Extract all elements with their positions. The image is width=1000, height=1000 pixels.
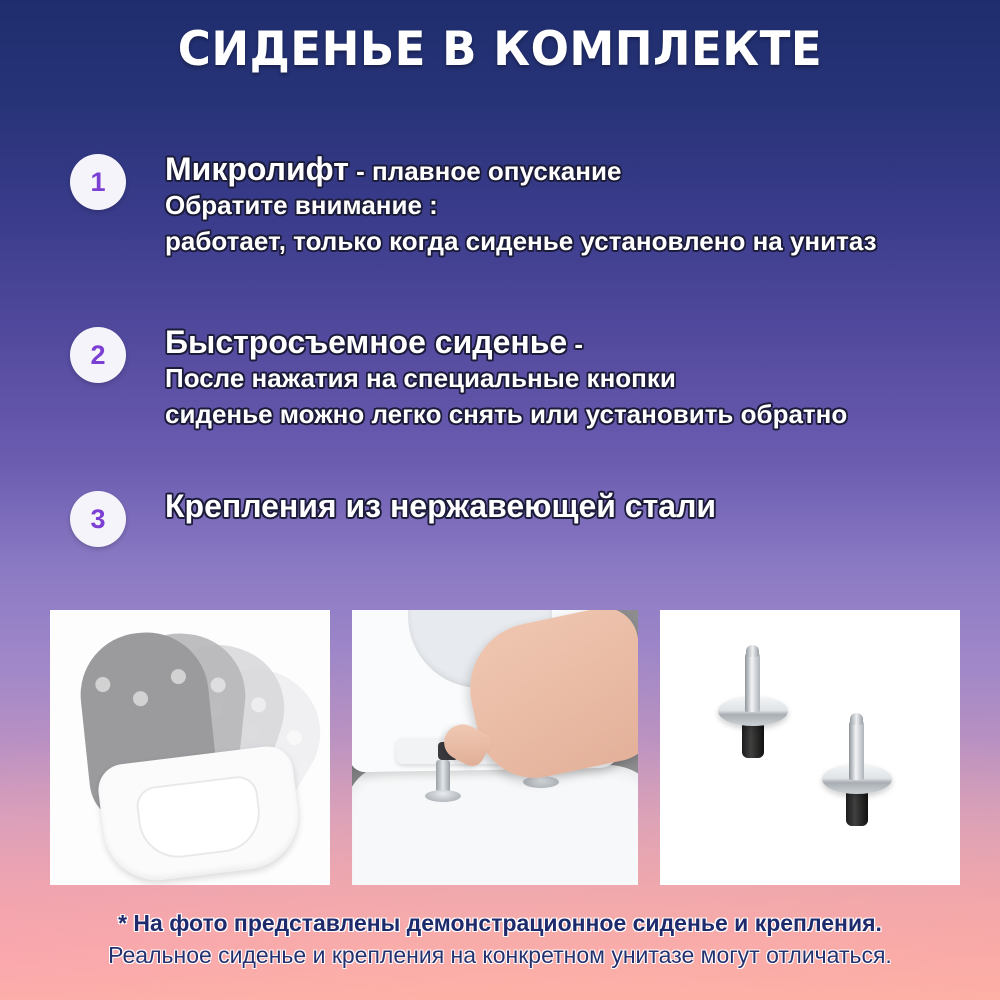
feature-text-2: Быстросъемное сиденье - После нажатия на… xyxy=(165,323,847,433)
feature-heading-2: Быстросъемное сиденье - xyxy=(165,325,847,361)
photo-gallery xyxy=(50,610,960,885)
mounting-bolt-cap-left xyxy=(425,790,461,802)
page-title: СИДЕНЬЕ В КОМПЛЕКТЕ xyxy=(20,22,980,77)
steel-pin-2 xyxy=(849,718,864,780)
footer-disclaimer: * На фото представлены демонстрационное … xyxy=(0,908,1000,972)
photo-steel-fixings xyxy=(660,610,960,885)
feature-heading-sub-1: - плавное опускание xyxy=(349,156,622,186)
feature-heading-sub-2: - xyxy=(567,329,583,359)
promo-page: СИДЕНЬЕ В КОМПЛЕКТЕ 1 Микролифт - плавно… xyxy=(0,0,1000,1000)
footer-line-2: Реальное сиденье и крепления на конкретн… xyxy=(0,939,1000,972)
toilet-bowl xyxy=(352,765,638,885)
mounting-bolt-left xyxy=(436,760,450,794)
feature-badge-1: 1 xyxy=(70,154,126,210)
feature-text-1: Микролифт - плавное опускание Обратите в… xyxy=(165,150,877,260)
steel-pin-tip-2 xyxy=(850,713,863,725)
feature-badge-3: 3 xyxy=(70,491,126,547)
feature-heading-3: Крепления из нержавеющей стали xyxy=(165,489,716,525)
footer-line-1: * На фото представлены демонстрационное … xyxy=(0,908,1000,939)
feature-line-2-1: сиденье можно легко снять или установить… xyxy=(165,397,847,433)
feature-heading-1: Микролифт - плавное опускание xyxy=(165,152,877,188)
feature-heading-main-1: Микролифт xyxy=(165,151,349,187)
feature-heading-main-3: Крепления из нержавеющей стали xyxy=(165,488,716,524)
fixings-background xyxy=(660,610,960,885)
feature-line-1-1: работает, только когда сиденье установле… xyxy=(165,224,877,260)
feature-item-3: 3 Крепления из нержавеющей стали xyxy=(70,487,980,547)
feature-text-3: Крепления из нержавеющей стали xyxy=(165,487,716,525)
feature-line-2-0: После нажатия на специальные кнопки xyxy=(165,361,847,397)
seat-ring xyxy=(95,744,304,885)
feature-heading-main-2: Быстросъемное сиденье xyxy=(165,324,567,360)
photo-soft-close-seat xyxy=(50,610,330,885)
steel-pin-1 xyxy=(745,650,760,712)
seat-ring-opening xyxy=(134,774,264,862)
seat-illustration xyxy=(50,610,330,885)
feature-line-1-0: Обратите внимание : xyxy=(165,188,877,224)
photo-quick-release-button xyxy=(352,610,638,885)
feature-badge-2: 2 xyxy=(70,327,126,383)
steel-pin-tip-1 xyxy=(746,645,759,657)
feature-item-2: 2 Быстросъемное сиденье - После нажатия … xyxy=(70,323,980,433)
feature-item-1: 1 Микролифт - плавное опускание Обратите… xyxy=(70,150,980,260)
